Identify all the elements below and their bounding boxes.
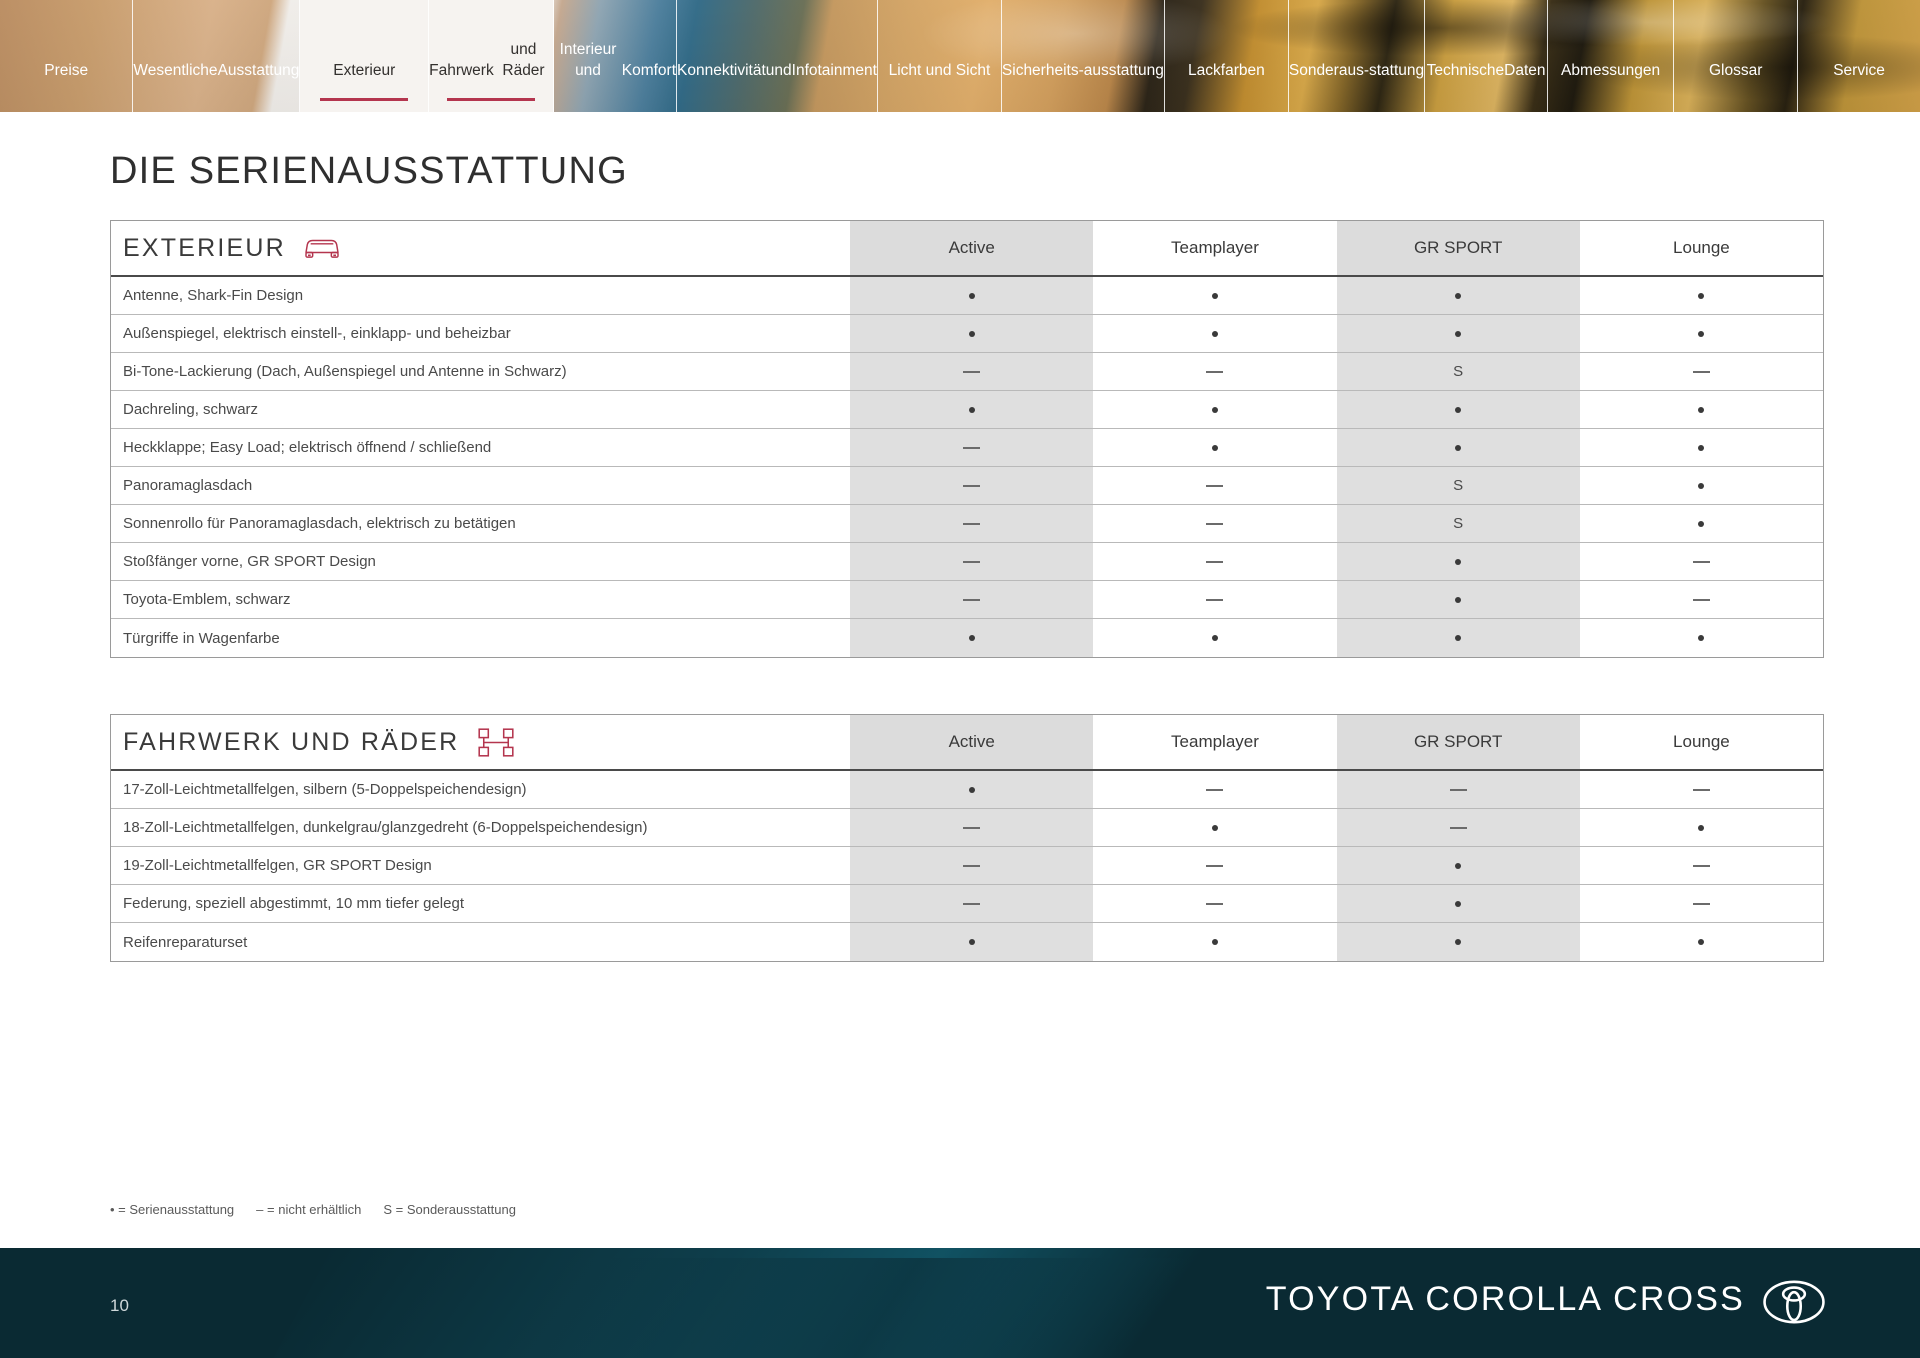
feature-availability-cell	[1580, 809, 1823, 846]
feature-availability-cell	[850, 277, 1093, 314]
marker-unavailable	[1206, 903, 1223, 905]
marker-standard	[1455, 559, 1461, 565]
marker-standard	[1455, 939, 1461, 945]
marker-unavailable	[1693, 789, 1710, 791]
column-header-active: Active	[850, 715, 1093, 769]
marker-standard	[969, 787, 975, 793]
feature-availability-cell	[1093, 923, 1336, 961]
feature-availability-cell	[1093, 505, 1336, 542]
nav-item-label: Licht und Sicht	[889, 61, 991, 82]
feature-name: Heckklappe; Easy Load; elektrisch öffnen…	[111, 429, 850, 466]
marker-unavailable	[963, 599, 980, 601]
table-row: Bi-Tone-Lackierung (Dach, Außenspiegel u…	[111, 353, 1823, 391]
marker-standard	[1698, 331, 1704, 337]
feature-availability-cell	[1580, 543, 1823, 580]
feature-availability-cell	[1337, 277, 1580, 314]
feature-availability-cell	[850, 771, 1093, 808]
feature-availability-cell	[1580, 923, 1823, 961]
nav-item-licht-und-sicht[interactable]: Licht und Sicht	[878, 0, 1002, 112]
table-row: Türgriffe in Wagenfarbe	[111, 619, 1823, 657]
feature-availability-cell	[1337, 391, 1580, 428]
marker-unavailable	[1693, 561, 1710, 563]
feature-name: Federung, speziell abgestimmt, 10 mm tie…	[111, 885, 850, 922]
nav-item-wesentliche-ausstattung[interactable]: WesentlicheAusstattung	[133, 0, 300, 112]
feature-name: Türgriffe in Wagenfarbe	[111, 619, 850, 657]
table-row: PanoramaglasdachS	[111, 467, 1823, 505]
table-row: Antenne, Shark-Fin Design	[111, 277, 1823, 315]
page-content: DIE SERIENAUSSTATTUNG EXTERIEURActiveTea…	[0, 112, 1920, 1358]
marker-standard	[1212, 331, 1218, 337]
marker-optional: S	[1453, 477, 1463, 494]
feature-availability-cell: S	[1337, 467, 1580, 504]
feature-availability-cell	[1580, 391, 1823, 428]
nav-item-label: Lackfarben	[1188, 61, 1265, 82]
nav-item-label: Technische	[1427, 61, 1505, 82]
nav-item-label: und Räder	[494, 40, 554, 82]
legend: • = Serienausstattung– = nicht erhältlic…	[110, 1202, 516, 1217]
nav-item-interieur-und-komfort[interactable]: Interieur undKomfort	[554, 0, 677, 112]
marker-standard	[1698, 445, 1704, 451]
marker-unavailable	[1693, 371, 1710, 373]
feature-availability-cell	[1337, 315, 1580, 352]
feature-availability-cell	[850, 429, 1093, 466]
marker-standard	[1212, 445, 1218, 451]
page-footer: 10 TOYOTA COROLLA CROSS	[0, 1248, 1920, 1358]
car-front-icon	[302, 235, 342, 262]
marker-unavailable	[963, 523, 980, 525]
marker-unavailable	[1693, 599, 1710, 601]
feature-availability-cell: S	[1337, 505, 1580, 542]
legend-item: – = nicht erhältlich	[256, 1202, 361, 1217]
feature-name: Außenspiegel, elektrisch einstell-, eink…	[111, 315, 850, 352]
marker-standard	[1455, 445, 1461, 451]
marker-unavailable	[963, 485, 980, 487]
nav-item-label: Fahrwerk	[429, 61, 494, 82]
feature-availability-cell	[850, 923, 1093, 961]
marker-standard	[969, 939, 975, 945]
feature-availability-cell	[1093, 429, 1336, 466]
toyota-logo-icon	[1763, 1280, 1825, 1324]
feature-name: 18-Zoll-Leichtmetallfelgen, dunkelgrau/g…	[111, 809, 850, 846]
nav-item-label: Konnektivität	[677, 61, 766, 82]
marker-unavailable	[963, 447, 980, 449]
feature-availability-cell	[850, 467, 1093, 504]
marker-unavailable	[1206, 865, 1223, 867]
column-header-gr-sport: GR SPORT	[1337, 221, 1580, 275]
feature-availability-cell	[1580, 771, 1823, 808]
nav-item-service[interactable]: Service	[1798, 0, 1920, 112]
spec-table-exterieur: EXTERIEURActiveTeamplayerGR SPORTLoungeA…	[110, 220, 1824, 658]
feature-availability-cell	[850, 391, 1093, 428]
feature-name: Panoramaglasdach	[111, 467, 850, 504]
nav-item-preise[interactable]: Preise	[0, 0, 133, 112]
feature-availability-cell	[1093, 885, 1336, 922]
marker-optional: S	[1453, 363, 1463, 380]
nav-item-label: ausstattung	[1084, 61, 1164, 82]
marker-unavailable	[1206, 523, 1223, 525]
feature-name: Dachreling, schwarz	[111, 391, 850, 428]
marker-unavailable	[963, 903, 980, 905]
feature-availability-cell: S	[1337, 353, 1580, 390]
section-icon-wrap	[475, 727, 517, 758]
marker-unavailable	[963, 827, 980, 829]
feature-availability-cell	[1093, 277, 1336, 314]
nav-item-glossar[interactable]: Glossar	[1674, 0, 1798, 112]
nav-item-label: Sonderaus-	[1289, 61, 1369, 82]
table-row: 17-Zoll-Leichtmetallfelgen, silbern (5-D…	[111, 771, 1823, 809]
table-row: Stoßfänger vorne, GR SPORT Design	[111, 543, 1823, 581]
nav-item-label: Exterieur	[333, 61, 395, 82]
feature-availability-cell	[1093, 809, 1336, 846]
marker-standard	[1698, 483, 1704, 489]
feature-availability-cell	[1093, 619, 1336, 657]
page-title: DIE SERIENAUSSTATTUNG	[110, 150, 628, 193]
table-row: Heckklappe; Easy Load; elektrisch öffnen…	[111, 429, 1823, 467]
marker-unavailable	[963, 865, 980, 867]
brand-name: TOYOTA COROLLA CROSS	[1266, 1280, 1745, 1319]
section-icon-wrap	[302, 235, 342, 262]
marker-standard	[1698, 407, 1704, 413]
feature-availability-cell	[1337, 923, 1580, 961]
nav-item-sicherheits-ausstattung[interactable]: Sicherheits-ausstattung	[1002, 0, 1165, 112]
feature-availability-cell	[1580, 315, 1823, 352]
nav-item-label: Glossar	[1709, 61, 1762, 82]
marker-unavailable	[1206, 599, 1223, 601]
feature-availability-cell	[850, 619, 1093, 657]
feature-availability-cell	[850, 505, 1093, 542]
feature-availability-cell	[1093, 467, 1336, 504]
feature-availability-cell	[850, 543, 1093, 580]
nav-item-label: Interieur und	[554, 40, 622, 82]
marker-standard	[1455, 863, 1461, 869]
feature-name: Bi-Tone-Lackierung (Dach, Außenspiegel u…	[111, 353, 850, 390]
feature-availability-cell	[1580, 353, 1823, 390]
axle-wheels-icon	[475, 727, 517, 758]
column-header-teamplayer: Teamplayer	[1093, 221, 1336, 275]
marker-standard	[1698, 825, 1704, 831]
table-row: 19-Zoll-Leichtmetallfelgen, GR SPORT Des…	[111, 847, 1823, 885]
feature-availability-cell	[1093, 543, 1336, 580]
feature-availability-cell	[1337, 581, 1580, 618]
legend-item: S = Sonderausstattung	[383, 1202, 516, 1217]
feature-availability-cell	[1337, 619, 1580, 657]
feature-availability-cell	[1337, 847, 1580, 884]
section-title: EXTERIEUR	[123, 234, 286, 263]
marker-unavailable	[963, 371, 980, 373]
spec-table-fahrwerk-und-raeder: FAHRWERK UND RÄDERActiveTeamplayerGR SPO…	[110, 714, 1824, 962]
nav-item-abmessungen[interactable]: Abmessungen	[1548, 0, 1674, 112]
marker-standard	[1212, 635, 1218, 641]
table-header-row: FAHRWERK UND RÄDERActiveTeamplayerGR SPO…	[111, 715, 1823, 771]
marker-unavailable	[1450, 827, 1467, 829]
marker-unavailable	[1206, 371, 1223, 373]
column-header-teamplayer: Teamplayer	[1093, 715, 1336, 769]
marker-standard	[1698, 293, 1704, 299]
feature-availability-cell	[1337, 543, 1580, 580]
feature-availability-cell	[850, 353, 1093, 390]
column-header-active: Active	[850, 221, 1093, 275]
marker-standard	[1698, 939, 1704, 945]
table-row: Toyota-Emblem, schwarz	[111, 581, 1823, 619]
marker-unavailable	[1206, 561, 1223, 563]
feature-name: Stoßfänger vorne, GR SPORT Design	[111, 543, 850, 580]
nav-item-label: und	[766, 61, 792, 82]
feature-availability-cell	[1580, 467, 1823, 504]
nav-item-fahrwerk-und-räder[interactable]: Fahrwerkund Räder	[429, 0, 554, 112]
feature-availability-cell	[1337, 429, 1580, 466]
marker-unavailable	[1206, 485, 1223, 487]
marker-standard	[969, 293, 975, 299]
feature-name: 17-Zoll-Leichtmetallfelgen, silbern (5-D…	[111, 771, 850, 808]
footer-swoosh-2	[468, 1258, 1332, 1358]
marker-unavailable	[963, 561, 980, 563]
legend-item: • = Serienausstattung	[110, 1202, 234, 1217]
table-row: Federung, speziell abgestimmt, 10 mm tie…	[111, 885, 1823, 923]
section-title-cell: FAHRWERK UND RÄDER	[111, 715, 850, 769]
marker-standard	[1455, 407, 1461, 413]
marker-standard	[1455, 331, 1461, 337]
feature-availability-cell	[1093, 771, 1336, 808]
feature-availability-cell	[1337, 771, 1580, 808]
nav-item-konnektivität-und-infotainment[interactable]: KonnektivitätundInfotainment	[677, 0, 878, 112]
table-row: Außenspiegel, elektrisch einstell-, eink…	[111, 315, 1823, 353]
feature-availability-cell	[1580, 847, 1823, 884]
nav-item-technische-daten[interactable]: TechnischeDaten	[1425, 0, 1548, 112]
nav-item-sonderaus-stattung[interactable]: Sonderaus-stattung	[1289, 0, 1425, 112]
table-row: Dachreling, schwarz	[111, 391, 1823, 429]
marker-unavailable	[1450, 789, 1467, 791]
nav-item-label: stattung	[1369, 61, 1424, 82]
nav-item-label: Daten	[1504, 61, 1545, 82]
feature-availability-cell	[1337, 809, 1580, 846]
nav-item-exterieur[interactable]: Exterieur	[300, 0, 429, 112]
marker-standard	[969, 407, 975, 413]
nav-item-label: Komfort	[622, 61, 676, 82]
feature-availability-cell	[1337, 885, 1580, 922]
marker-unavailable	[1206, 789, 1223, 791]
marker-standard	[1455, 901, 1461, 907]
marker-standard	[1455, 635, 1461, 641]
feature-name: Toyota-Emblem, schwarz	[111, 581, 850, 618]
marker-optional: S	[1453, 515, 1463, 532]
feature-name: Antenne, Shark-Fin Design	[111, 277, 850, 314]
marker-standard	[1212, 293, 1218, 299]
feature-availability-cell	[1093, 391, 1336, 428]
feature-availability-cell	[850, 885, 1093, 922]
feature-name: 19-Zoll-Leichtmetallfelgen, GR SPORT Des…	[111, 847, 850, 884]
column-header-lounge: Lounge	[1580, 221, 1823, 275]
feature-name: Sonnenrollo für Panoramaglasdach, elektr…	[111, 505, 850, 542]
feature-availability-cell	[1580, 619, 1823, 657]
column-header-gr-sport: GR SPORT	[1337, 715, 1580, 769]
marker-standard	[969, 331, 975, 337]
nav-item-lackfarben[interactable]: Lackfarben	[1165, 0, 1289, 112]
table-row: Reifenreparaturset	[111, 923, 1823, 961]
nav-item-label: Service	[1833, 61, 1885, 82]
column-header-lounge: Lounge	[1580, 715, 1823, 769]
marker-standard	[1455, 597, 1461, 603]
marker-standard	[1212, 825, 1218, 831]
feature-availability-cell	[1580, 581, 1823, 618]
table-row: Sonnenrollo für Panoramaglasdach, elektr…	[111, 505, 1823, 543]
marker-standard	[1212, 407, 1218, 413]
nav-item-label: Sicherheits-	[1002, 61, 1084, 82]
page-number: 10	[110, 1296, 129, 1316]
nav-item-label: Wesentliche	[133, 61, 217, 82]
feature-availability-cell	[1093, 315, 1336, 352]
marker-unavailable	[1693, 865, 1710, 867]
nav-item-label: Ausstattung	[218, 61, 300, 82]
marker-unavailable	[1693, 903, 1710, 905]
feature-availability-cell	[1580, 277, 1823, 314]
feature-availability-cell	[850, 581, 1093, 618]
feature-availability-cell	[1093, 847, 1336, 884]
nav-item-label: Abmessungen	[1561, 61, 1660, 82]
feature-availability-cell	[1093, 353, 1336, 390]
feature-availability-cell	[1580, 505, 1823, 542]
feature-availability-cell	[850, 809, 1093, 846]
marker-standard	[969, 635, 975, 641]
section-title: FAHRWERK UND RÄDER	[123, 728, 459, 757]
marker-standard	[1212, 939, 1218, 945]
nav-item-label: Infotainment	[792, 61, 877, 82]
section-navigation-bar: PreiseWesentlicheAusstattungExterieurFah…	[0, 0, 1920, 112]
feature-availability-cell	[1580, 429, 1823, 466]
section-title-cell: EXTERIEUR	[111, 221, 850, 275]
feature-availability-cell	[1093, 581, 1336, 618]
marker-standard	[1698, 635, 1704, 641]
table-header-row: EXTERIEURActiveTeamplayerGR SPORTLounge	[111, 221, 1823, 277]
marker-standard	[1455, 293, 1461, 299]
table-row: 18-Zoll-Leichtmetallfelgen, dunkelgrau/g…	[111, 809, 1823, 847]
marker-standard	[1698, 521, 1704, 527]
feature-availability-cell	[850, 315, 1093, 352]
nav-item-list: PreiseWesentlicheAusstattungExterieurFah…	[0, 0, 1920, 112]
feature-availability-cell	[850, 847, 1093, 884]
feature-name: Reifenreparaturset	[111, 923, 850, 961]
feature-availability-cell	[1580, 885, 1823, 922]
nav-item-label: Preise	[44, 61, 88, 82]
